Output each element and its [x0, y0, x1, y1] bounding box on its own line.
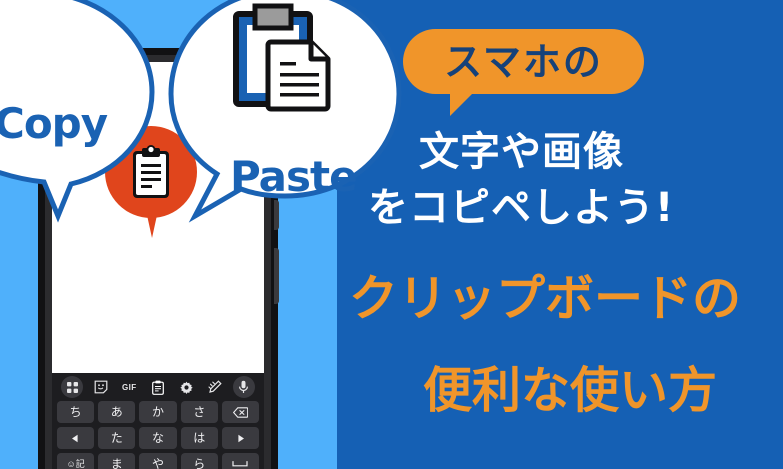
key-space[interactable] — [222, 453, 259, 469]
headline-panel: スマホの 文字や画像 をコピペしよう! クリップボードの 便利な使い方 — [337, 0, 783, 469]
key-sa[interactable]: さ — [181, 401, 218, 423]
headline-orange-line-1: クリップボードの — [349, 274, 741, 323]
headline-orange-line-2: 便利な使い方 — [423, 366, 717, 415]
copy-label: Copy — [0, 99, 107, 148]
backspace-icon — [233, 407, 248, 418]
key-backspace[interactable] — [222, 401, 259, 423]
handwriting-icon[interactable] — [204, 376, 226, 398]
key-a[interactable]: あ — [98, 401, 135, 423]
key-ma[interactable]: ま — [98, 453, 135, 469]
clipboard-paste-icon — [230, 2, 330, 110]
on-screen-keyboard: GIF — [52, 373, 264, 469]
key-ta[interactable]: た — [98, 427, 135, 449]
keyboard-keys: ち あ か さ — [52, 401, 264, 469]
key-ka[interactable]: か — [139, 401, 176, 423]
keyboard-row: ☺記 ま や ら — [57, 453, 259, 469]
key-ha[interactable]: は — [181, 427, 218, 449]
keyboard-row: ち あ か さ — [57, 401, 259, 423]
microphone-icon[interactable] — [233, 376, 255, 398]
keyboard-row: た な は — [57, 427, 259, 449]
headline-white-line-2: をコピペしよう! — [368, 188, 674, 228]
triangle-left-icon — [71, 434, 80, 443]
gif-icon[interactable]: GIF — [118, 376, 140, 398]
key-ya[interactable]: や — [139, 453, 176, 469]
keyboard-toolbar: GIF — [52, 373, 264, 401]
clipboard-tool-icon[interactable] — [147, 376, 169, 398]
key-na[interactable]: な — [139, 427, 176, 449]
apps-grid-icon[interactable] — [61, 376, 83, 398]
sticker-icon[interactable] — [90, 376, 112, 398]
key-cursor-right[interactable] — [222, 427, 259, 449]
triangle-right-icon — [236, 434, 245, 443]
key-emoji-symbols[interactable]: ☺記 — [57, 453, 94, 469]
key-chi[interactable]: ち — [57, 401, 94, 423]
poster-canvas: GIF — [0, 0, 783, 469]
key-ra[interactable]: ら — [181, 453, 218, 469]
key-cursor-left[interactable] — [57, 427, 94, 449]
gear-icon[interactable] — [176, 376, 198, 398]
space-icon — [232, 460, 248, 468]
headline-white-line-1: 文字や画像 — [419, 132, 624, 172]
smartphone-badge: スマホの — [403, 29, 644, 94]
phone-side-button-bottom[interactable] — [274, 248, 279, 304]
badge-text: スマホの — [444, 43, 603, 81]
